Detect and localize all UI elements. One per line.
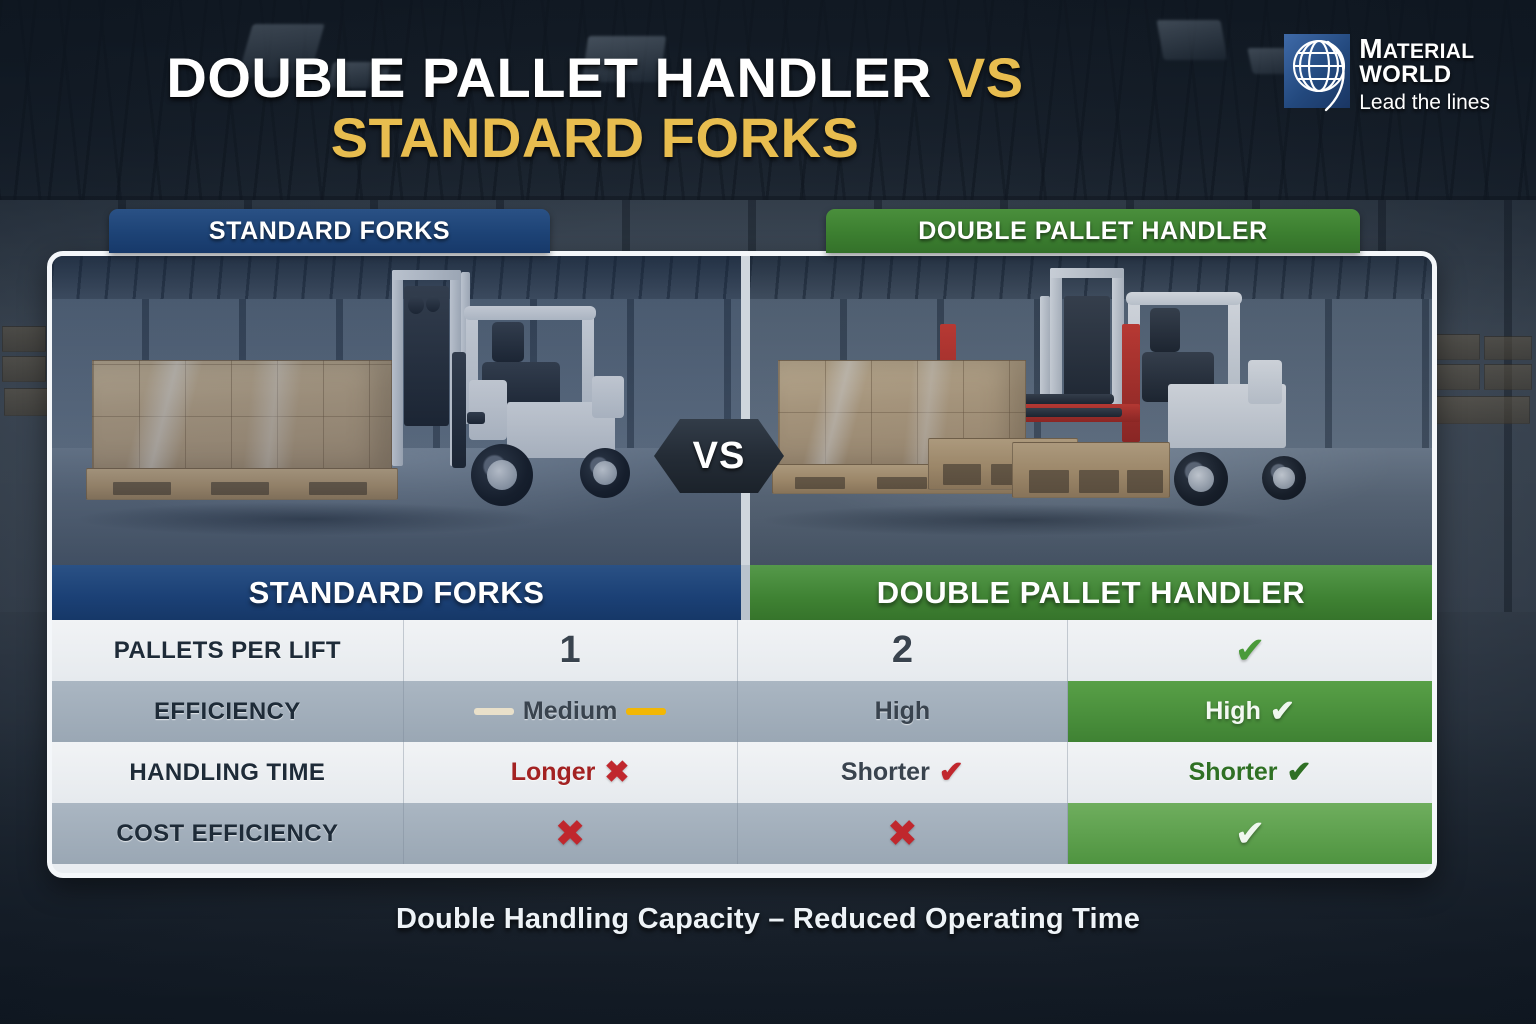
- table-row: EFFICIENCY Medium High High ✔: [52, 681, 1432, 742]
- value-group: High ✔: [1205, 697, 1295, 727]
- table-row: HANDLING TIME Longer ✖ Shorter ✔: [52, 742, 1432, 803]
- row-value-standard: ✖: [404, 803, 738, 864]
- comparison-table: STANDARD FORKS DOUBLE PALLET HANDLER PAL…: [52, 565, 1432, 864]
- row-label-cell: EFFICIENCY: [52, 681, 404, 742]
- value-text: Shorter: [841, 758, 930, 787]
- photo-strip: [52, 256, 1432, 565]
- value-text: Medium: [523, 697, 617, 726]
- title-main-text: DOUBLE PALLET HANDLER: [166, 46, 931, 109]
- value-group: Shorter ✔: [841, 758, 964, 788]
- row-label-cell: COST EFFICIENCY: [52, 803, 404, 864]
- photo-divider: [741, 256, 750, 565]
- row-value-handler: ✔: [1068, 620, 1432, 681]
- value-text: Shorter: [1189, 758, 1278, 787]
- row-value-standard: 1: [404, 620, 738, 681]
- cross-icon: ✖: [887, 815, 918, 852]
- title-line-1: DOUBLE PALLET HANDLER VS: [0, 48, 1190, 107]
- row-value-middle: 2: [738, 620, 1069, 681]
- table-header-standard-forks: STANDARD FORKS: [52, 565, 741, 620]
- tab-double-pallet-handler[interactable]: DOUBLE PALLET HANDLER: [826, 209, 1360, 253]
- value-text: High: [875, 697, 931, 726]
- logo-name-cap: M: [1359, 33, 1383, 64]
- logo-tagline: Lead the lines: [1359, 90, 1490, 115]
- row-label: HANDLING TIME: [129, 759, 325, 787]
- row-label: EFFICIENCY: [154, 698, 301, 726]
- title-line-2: STANDARD FORKS: [0, 107, 1190, 170]
- dash-right-icon: [626, 708, 666, 715]
- value-group: Shorter ✔: [1189, 758, 1312, 788]
- row-value-middle: ✖: [738, 803, 1069, 864]
- table-header-row: STANDARD FORKS DOUBLE PALLET HANDLER: [52, 565, 1432, 620]
- logo-name-line1: MATERIAL: [1359, 36, 1490, 63]
- value-text: Longer: [511, 758, 596, 787]
- row-value-standard: Longer ✖: [404, 742, 738, 803]
- table-header-double-pallet-handler: DOUBLE PALLET HANDLER: [750, 565, 1432, 620]
- value-medium-group: Medium: [474, 697, 666, 726]
- row-value-middle: Shorter ✔: [738, 742, 1069, 803]
- footer-caption: Double Handling Capacity – Reduced Opera…: [0, 903, 1536, 936]
- cross-icon: ✖: [555, 815, 586, 852]
- photo-standard-forks: [52, 256, 741, 565]
- value-text: High: [1205, 697, 1261, 726]
- row-value-standard: Medium: [404, 681, 738, 742]
- row-label-cell: HANDLING TIME: [52, 742, 404, 803]
- check-icon: ✔: [1270, 697, 1295, 727]
- table-row: COST EFFICIENCY ✖ ✖ ✔: [52, 803, 1432, 864]
- page-title: DOUBLE PALLET HANDLER VS STANDARD FORKS: [0, 48, 1190, 170]
- value-group: Longer ✖: [511, 758, 630, 788]
- infographic-canvas: DOUBLE PALLET HANDLER VS STANDARD FORKS …: [0, 0, 1536, 1024]
- dash-left-icon: [474, 708, 514, 715]
- check-icon: ✔: [939, 758, 964, 788]
- logo-wordmark: MATERIAL WORLD Lead the lines: [1359, 34, 1490, 115]
- comparison-card: STANDARD FORKS DOUBLE PALLET HANDLER PAL…: [47, 251, 1437, 878]
- brand-logo: MATERIAL WORLD Lead the lines: [1284, 34, 1490, 115]
- table-row: PALLETS PER LIFT 1 2 ✔: [52, 620, 1432, 681]
- logo-name-rest: ATERIAL: [1383, 40, 1475, 63]
- row-value-middle: High: [738, 681, 1069, 742]
- row-label: PALLETS PER LIFT: [114, 637, 341, 665]
- tab-standard-forks[interactable]: STANDARD FORKS: [109, 209, 550, 253]
- table-header-gap: [741, 565, 750, 620]
- row-value-handler: High ✔: [1068, 681, 1432, 742]
- value-text: 1: [560, 629, 581, 672]
- logo-name-line2: WORLD: [1359, 63, 1490, 87]
- title-vs-text: VS: [948, 46, 1024, 109]
- vs-badge: VS: [654, 419, 784, 493]
- value-text: 2: [892, 629, 913, 672]
- globe-icon: [1284, 34, 1350, 108]
- check-icon: ✔: [1235, 632, 1266, 669]
- vs-badge-label: VS: [693, 435, 746, 478]
- check-icon: ✔: [1235, 815, 1266, 852]
- check-icon: ✔: [1287, 758, 1312, 788]
- row-value-handler: Shorter ✔: [1068, 742, 1432, 803]
- row-label-cell: PALLETS PER LIFT: [52, 620, 404, 681]
- row-value-handler: ✔: [1068, 803, 1432, 864]
- row-label: COST EFFICIENCY: [116, 820, 338, 848]
- cross-icon: ✖: [604, 758, 629, 788]
- photo-double-pallet-handler: [750, 256, 1432, 565]
